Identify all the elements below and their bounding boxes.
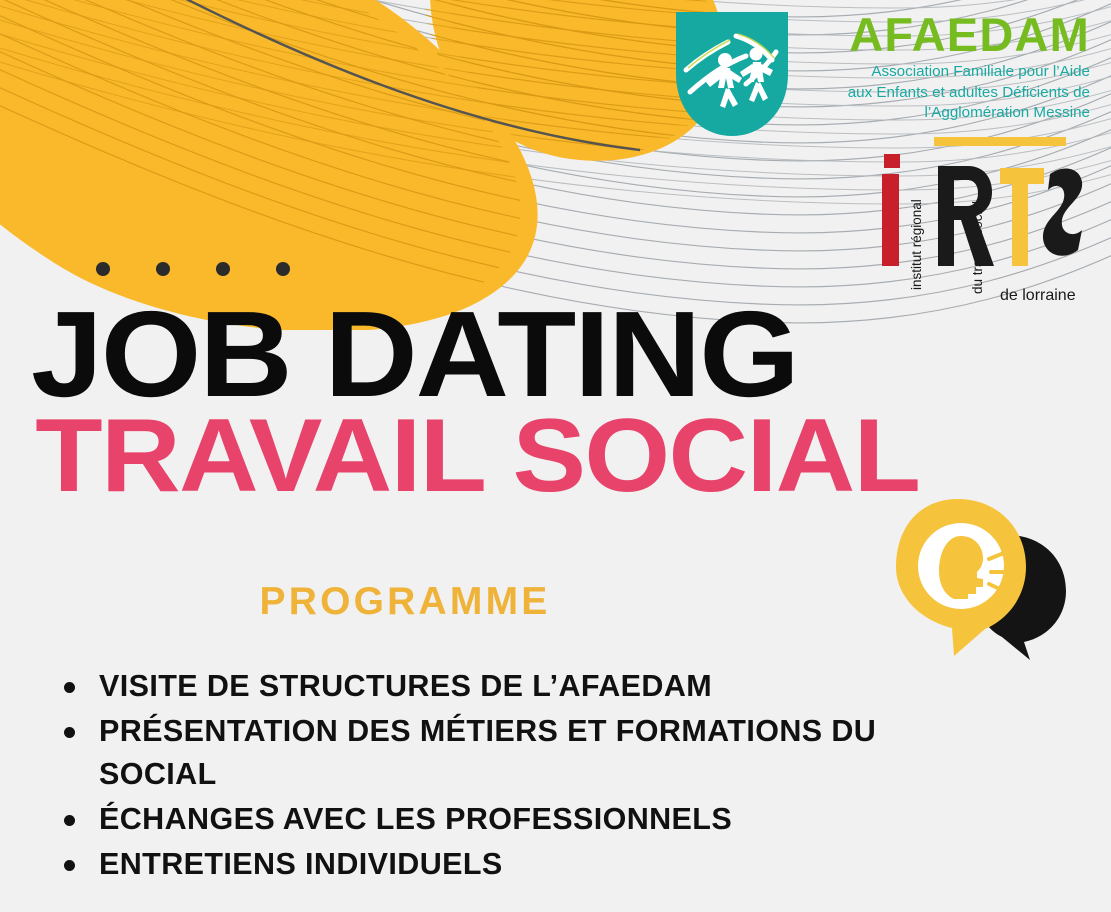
afaedam-text-block: AFAEDAM Association Familiale pour l’Aid… [800, 12, 1096, 124]
afaedam-tagline-line-3: l’Agglomération Messine [800, 103, 1090, 124]
bullet-icon [64, 727, 75, 738]
list-item: ÉCHANGES AVEC LES PROFESSIONNELS [56, 798, 896, 841]
afaedam-wordmark: AFAEDAM [800, 12, 1090, 57]
list-item-label: ÉCHANGES AVEC LES PROFESSIONNELS [99, 798, 896, 841]
list-item: ENTRETIENS INDIVIDUELS [56, 843, 896, 886]
afaedam-tagline-line-2: aux Enfants et adultes Déficients de [800, 83, 1090, 104]
yellow-blob-left [0, 0, 538, 330]
afaedam-logo: AFAEDAM Association Familiale pour l’Aid… [676, 12, 1096, 138]
programme-heading: PROGRAMME [0, 580, 810, 624]
dot-row [96, 262, 290, 276]
decor-dot [216, 262, 230, 276]
decor-dot [156, 262, 170, 276]
headline-block: JOB DATING TRAVAIL SOCIAL [31, 300, 811, 504]
programme-list: VISITE DE STRUCTURES DE L’AFAEDAM PRÉSEN… [56, 665, 896, 888]
headline-primary: JOB DATING [31, 300, 858, 408]
decor-dot [276, 262, 290, 276]
list-item-label: ENTRETIENS INDIVIDUELS [99, 843, 896, 886]
speech-bubbles-icon [890, 495, 1070, 660]
svg-text:du travail social: du travail social [970, 201, 985, 294]
list-item-label: PRÉSENTATION DES MÉTIERS ET FORMATIONS D… [99, 710, 896, 796]
poster-canvas: AFAEDAM Association Familiale pour l’Aid… [0, 0, 1111, 912]
decor-dot [96, 262, 110, 276]
afaedam-tagline: Association Familiale pour l’Aide aux En… [800, 62, 1090, 124]
headline-secondary: TRAVAIL SOCIAL [31, 408, 858, 504]
bullet-icon [64, 860, 75, 871]
irts-logo: institut régional du travail social de l… [872, 134, 1100, 309]
afaedam-shield-icon [676, 12, 788, 136]
afaedam-tagline-line-1: Association Familiale pour l’Aide [800, 62, 1090, 83]
list-item-label: VISITE DE STRUCTURES DE L’AFAEDAM [99, 665, 896, 708]
list-item: VISITE DE STRUCTURES DE L’AFAEDAM [56, 665, 896, 708]
irts-logo-graphic: institut régional du travail social de l… [872, 134, 1100, 309]
bullet-icon [64, 682, 75, 693]
svg-text:institut régional: institut régional [909, 199, 924, 290]
svg-text:de lorraine: de lorraine [1000, 287, 1076, 304]
bullet-icon [64, 815, 75, 826]
list-item: PRÉSENTATION DES MÉTIERS ET FORMATIONS D… [56, 710, 896, 796]
